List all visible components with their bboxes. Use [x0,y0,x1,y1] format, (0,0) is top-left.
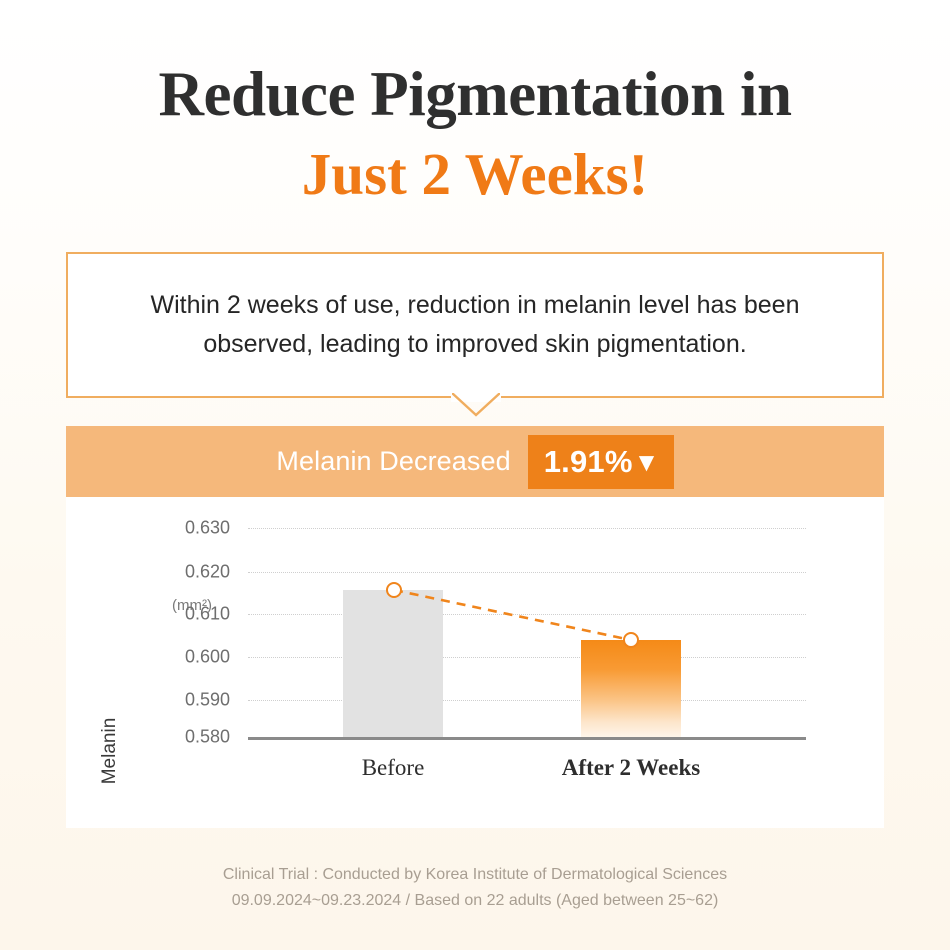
gridline [248,657,806,658]
footnote-line-2: 09.09.2024~09.23.2024 / Based on 22 adul… [0,888,950,914]
page-title: Reduce Pigmentation in Just 2 Weeks! [0,52,950,214]
result-banner: Melanin Decreased 1.91% ▼ [66,426,884,497]
gridline [248,572,806,573]
y-axis-tick: 0.610 [164,604,230,625]
chart-card: Melanin Decreased 1.91% ▼ (mm²) Melanin … [66,426,884,828]
y-axis-tick: 0.620 [164,562,230,583]
y-axis-title: Melanin [99,691,121,811]
badge-value: 1.91% [544,446,633,477]
y-axis-tick: 0.600 [164,647,230,668]
gridline [248,614,806,615]
gridline [248,700,806,701]
callout-notch-icon [452,393,500,417]
x-axis-tick-after: After 2 Weeks [501,755,761,781]
banner-label: Melanin Decreased [276,446,510,477]
footnote: Clinical Trial : Conducted by Korea Inst… [0,862,950,914]
y-axis-tick: 0.580 [164,727,230,748]
infographic-page: Reduce Pigmentation in Just 2 Weeks! Wit… [0,0,950,950]
y-axis-tick: 0.630 [164,518,230,539]
bar-after-2-weeks [581,640,681,737]
bar-before [343,590,443,737]
x-axis-line [248,737,806,740]
headline-line-2: Just 2 Weeks! [0,134,950,214]
x-axis-tick-before: Before [263,755,523,781]
footnote-line-1: Clinical Trial : Conducted by Korea Inst… [0,862,950,888]
chart-plot-area: (mm²) Melanin 0.630 0.620 0.610 0.600 0.… [66,497,884,828]
gridline [248,528,806,529]
headline-line-1: Reduce Pigmentation in [159,59,792,129]
y-axis-tick: 0.590 [164,690,230,711]
caret-down-icon: ▼ [634,449,660,475]
data-point-after [623,632,639,648]
description-text: Within 2 weeks of use, reduction in mela… [68,286,882,365]
description-callout: Within 2 weeks of use, reduction in mela… [66,252,884,398]
data-point-before [386,582,402,598]
change-badge: 1.91% ▼ [528,435,674,489]
